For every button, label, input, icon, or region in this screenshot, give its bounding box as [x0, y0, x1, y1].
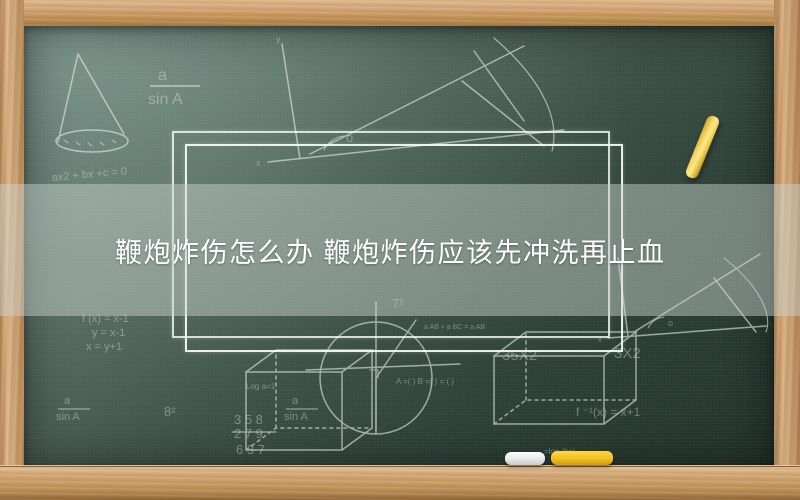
chalk-law-of-sines-mid2-den: sin A: [284, 411, 309, 423]
frame-bottom-ledge: [0, 466, 800, 500]
chalk-law-of-sines-den: sin A: [148, 91, 183, 108]
chalk-arithmetic-line1: 3 5 8: [234, 412, 263, 427]
chalk-axis-y-left: y: [276, 34, 281, 44]
blackboard-banner: a sin A ax2 + bx +c = 0 y x o y x o 35X2…: [0, 0, 800, 500]
ledge-chalk-white: [505, 452, 545, 465]
chalk-law-of-sines-num: a: [158, 67, 167, 84]
chalk-angle-label-right: o: [668, 318, 673, 328]
chalk-func-line-2: y = x-1: [92, 327, 125, 339]
chalk-law-of-sines-mid-num: a: [64, 395, 71, 407]
frame-top-rail: [0, 0, 800, 26]
chalk-func-line-3: x = y+1: [86, 341, 122, 353]
cube-sketch-1: [246, 350, 372, 450]
chalk-arithmetic-line2: 2 7 9: [234, 426, 263, 441]
chalk-power-eight: 8²: [164, 404, 176, 419]
page-title: 鞭炮炸伤怎么办 鞭炮炸伤应该先冲洗再止血: [0, 184, 800, 316]
chalk-law-of-sines-mid2-num: a: [292, 395, 299, 407]
ledge-chalk-yellow: [551, 451, 613, 465]
chalk-quadratic: ax2 + bx +c = 0: [51, 165, 127, 184]
chalk-log-note-1: Log a=1: [246, 382, 276, 391]
cone-sketch: [56, 54, 128, 152]
chalk-law-of-sines-mid-den: sin A: [56, 411, 81, 423]
chalk-arithmetic-result: 6 3 7: [236, 442, 265, 457]
chalk-matrix-note: A =( ) B =( ) = ( ): [396, 377, 454, 386]
chalk-inverse-func: f ⁻¹(x) = x+1: [576, 405, 641, 419]
